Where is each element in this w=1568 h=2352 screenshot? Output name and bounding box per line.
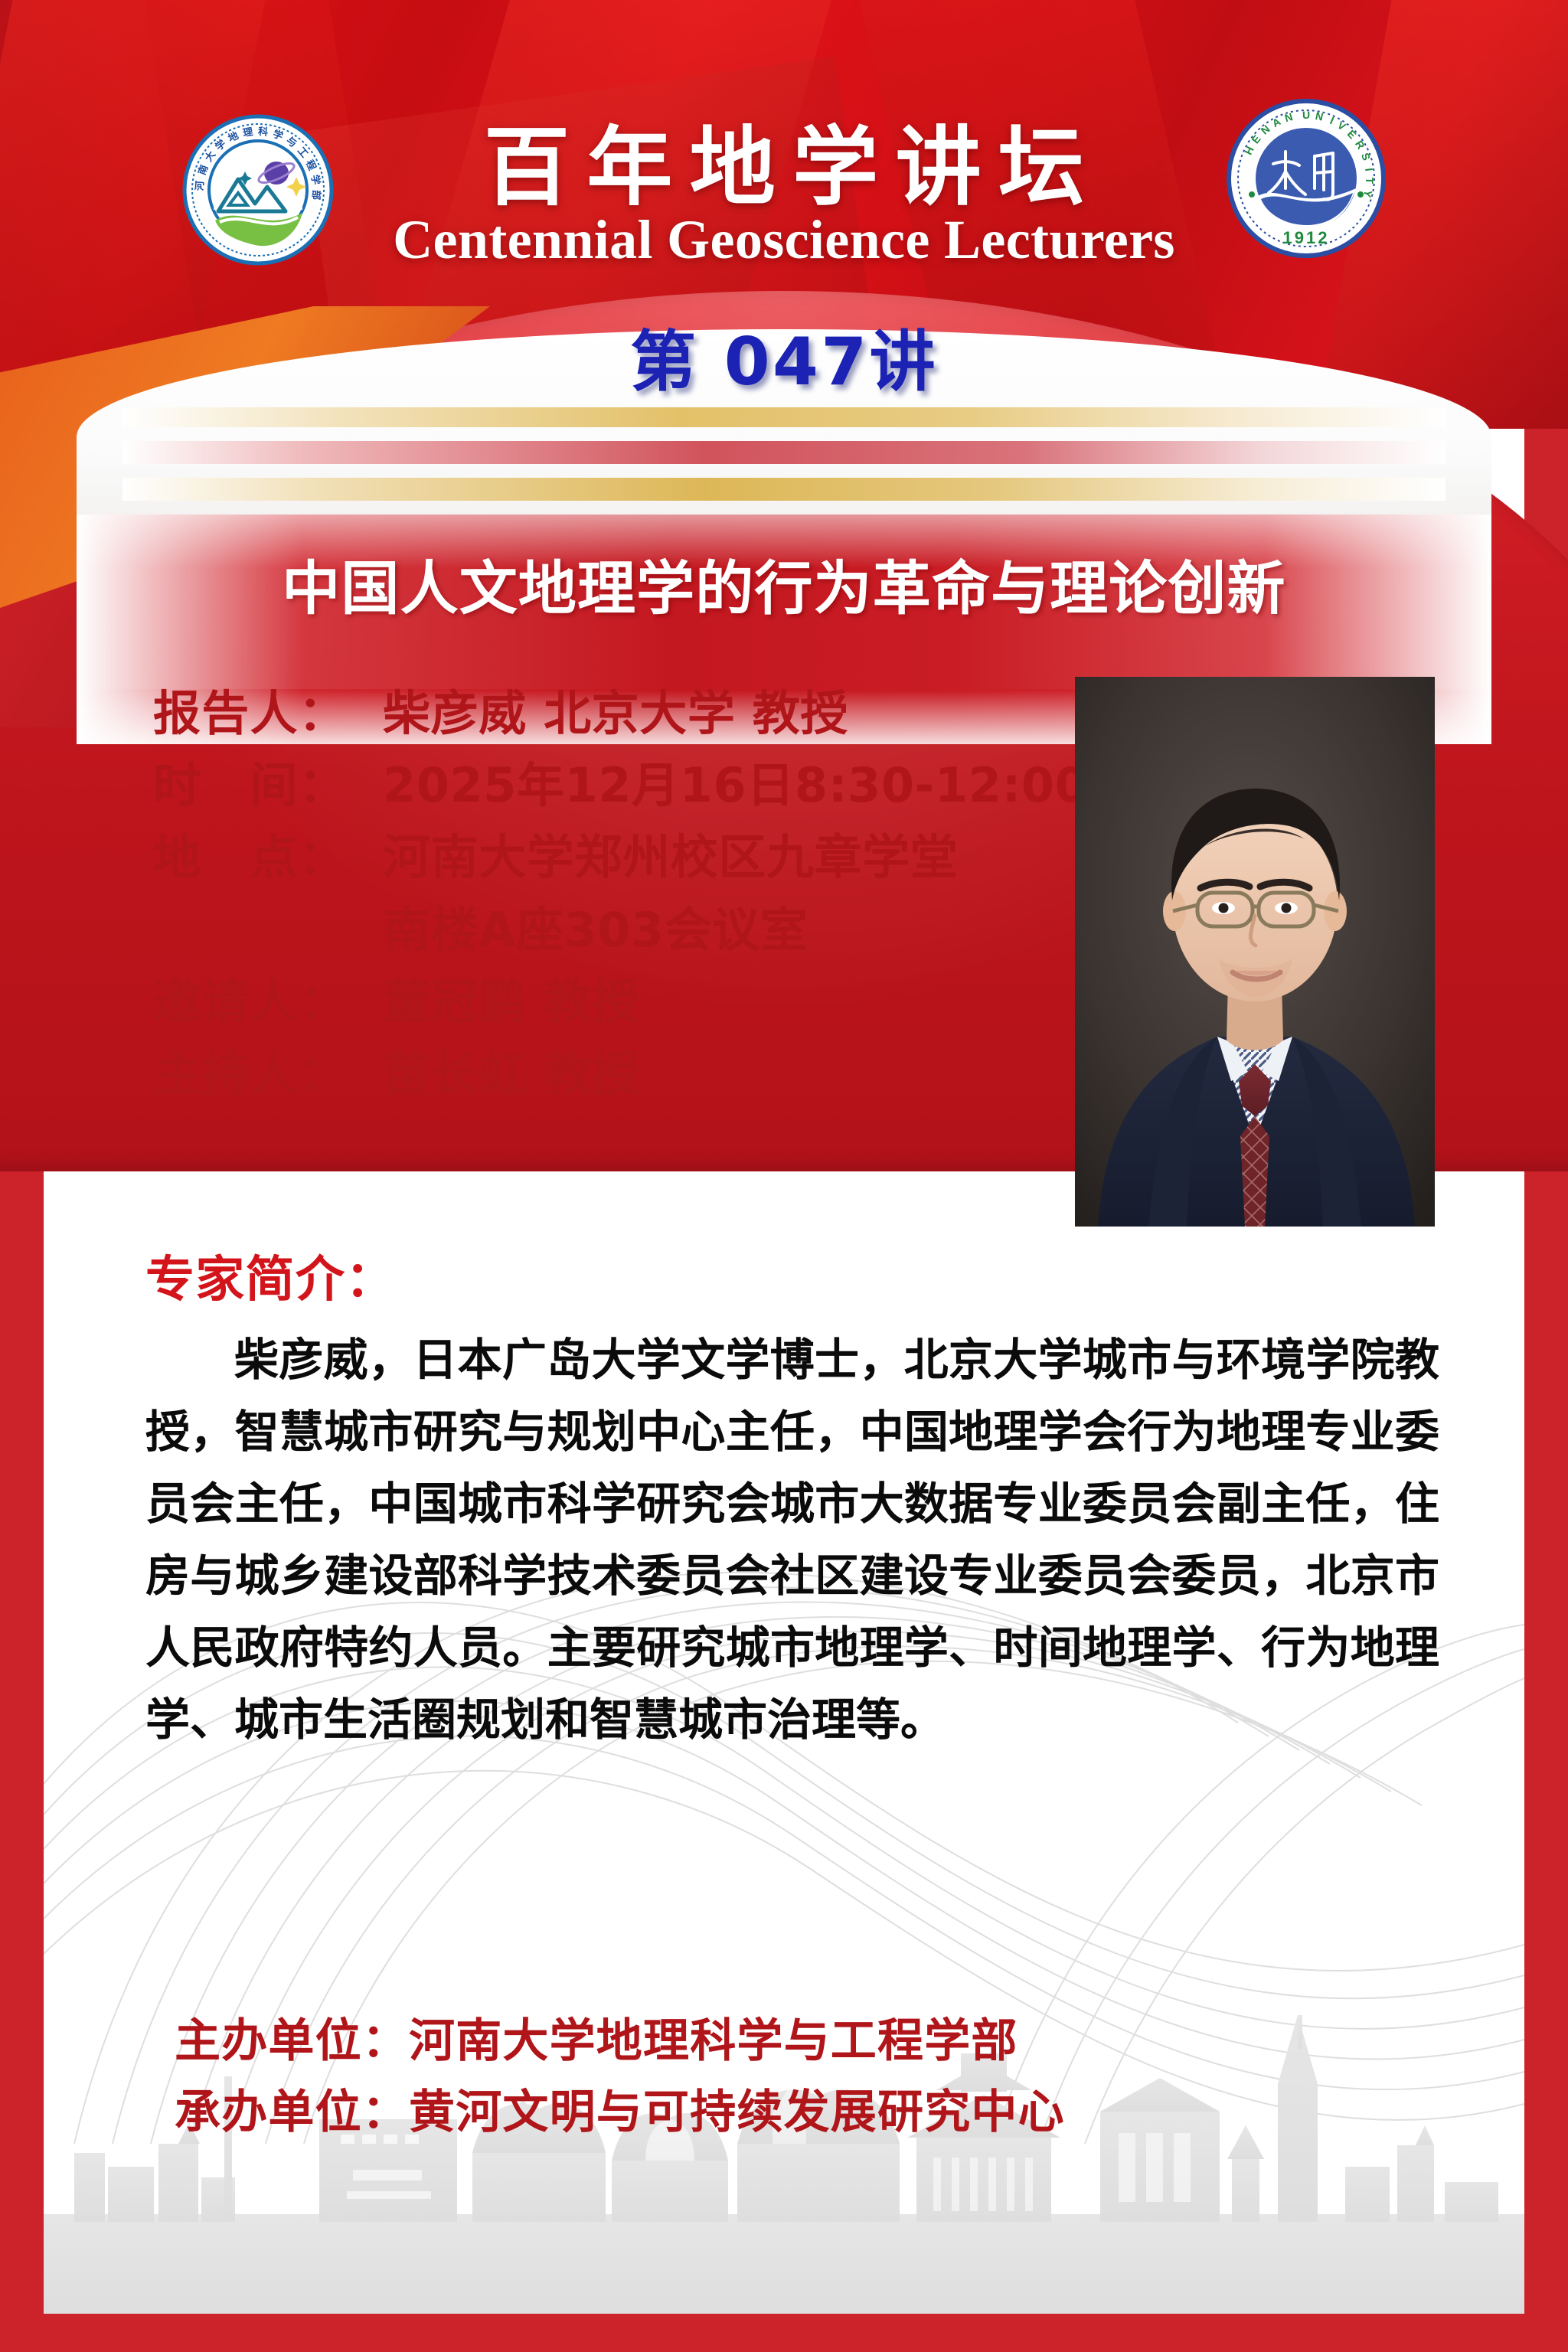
speaker-portrait bbox=[1075, 677, 1435, 1227]
detail-value-speaker: 柴彦威 北京大学 教授 bbox=[383, 678, 848, 750]
detail-label-venue: 地 点： bbox=[153, 822, 383, 893]
organiser-value-coorganiser: 黄河文明与可持续发展研究中心 bbox=[409, 2086, 1065, 2139]
organiser-row-host: 主办单位：河南大学地理科学与工程学部 bbox=[175, 2006, 1065, 2077]
detail-row-speaker: 报告人： 柴彦威 北京大学 教授 bbox=[153, 678, 1057, 750]
detail-row-inviter: 邀请人： 董冠鹏 教授 bbox=[153, 966, 1057, 1038]
detail-row-venue: 地 点： 河南大学郑州校区九章学堂 bbox=[153, 822, 1057, 893]
organiser-value-host: 河南大学地理科学与工程学部 bbox=[409, 2014, 1018, 2068]
ribbon-red-middle bbox=[122, 441, 1445, 464]
expert-bio-text: 柴彦威，日本广岛大学文学博士，北京大学城市与环境学院教授，智慧城市研究与规划中心… bbox=[145, 1325, 1439, 1756]
detail-label-inviter: 邀请人： bbox=[153, 966, 383, 1038]
organisers-block: 主办单位：河南大学地理科学与工程学部 承办单位：黄河文明与可持续发展研究中心 bbox=[175, 2006, 1065, 2148]
detail-label-time: 时 间： bbox=[153, 750, 383, 822]
detail-value-venue-line2: 南楼A座303会议室 bbox=[383, 894, 808, 966]
organiser-label-coorganiser: 承办单位： bbox=[175, 2086, 409, 2139]
poster-root: 河 南 大 学 地 理 科 学 与 工 程 学 部 bbox=[0, 0, 1568, 2352]
detail-value-inviter: 董冠鹏 教授 bbox=[383, 966, 639, 1038]
detail-value-host: 苗长虹 教授 bbox=[383, 1038, 639, 1110]
organiser-label-host: 主办单位： bbox=[175, 2014, 409, 2068]
ribbon-gold-top bbox=[122, 407, 1445, 427]
detail-value-time: 2025年12月16日8:30-12:00 bbox=[383, 750, 1088, 822]
detail-label-speaker: 报告人： bbox=[153, 678, 383, 750]
ribbon-gold-bottom bbox=[122, 478, 1445, 501]
decorative-ribbon-stripes bbox=[122, 407, 1445, 530]
detail-row-host: 主持人： 苗长虹 教授 bbox=[153, 1038, 1057, 1110]
lecture-number-badge: 第 047讲 bbox=[0, 308, 1568, 403]
detail-row-venue-continuation: 南楼A座303会议室 bbox=[153, 894, 1057, 966]
detail-value-venue: 河南大学郑州校区九章学堂 bbox=[383, 822, 958, 893]
detail-label-host: 主持人： bbox=[153, 1038, 383, 1110]
event-details-block: 报告人： 柴彦威 北京大学 教授 时 间： 2025年12月16日8:30-12… bbox=[153, 678, 1057, 1110]
brand-title-en: Centennial Geoscience Lecturers bbox=[0, 208, 1568, 272]
brand-title-cn: 百年地学讲坛 bbox=[0, 98, 1568, 222]
organiser-row-coorganiser: 承办单位：黄河文明与可持续发展研究中心 bbox=[175, 2077, 1065, 2148]
detail-row-time: 时 间： 2025年12月16日8:30-12:00 bbox=[153, 750, 1057, 822]
lecture-title: 中国人文地理学的行为革命与理论创新 bbox=[77, 514, 1491, 652]
expert-bio-heading: 专家简介： bbox=[145, 1240, 395, 1311]
